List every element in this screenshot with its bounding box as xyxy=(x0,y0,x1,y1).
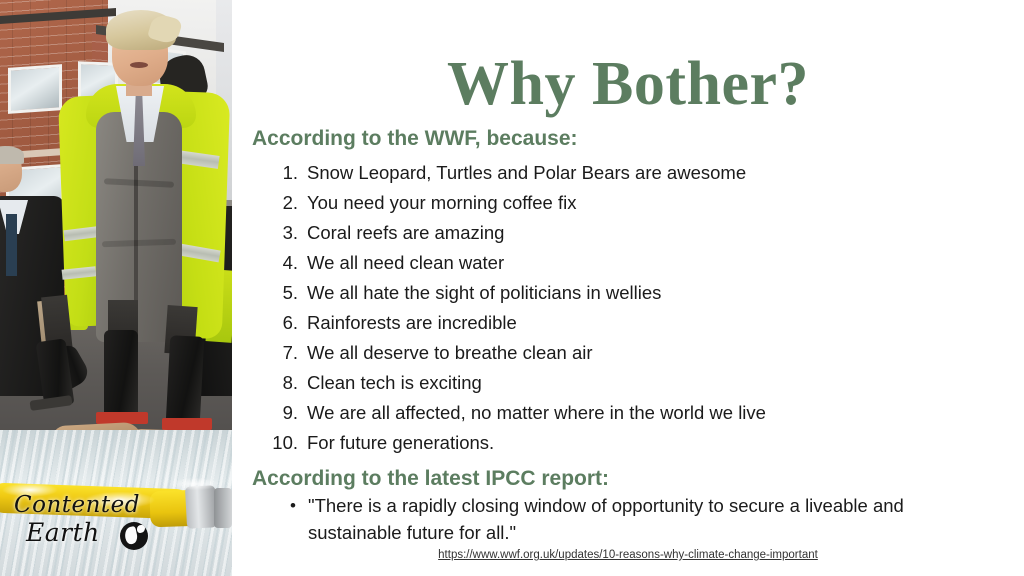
list-item: 7.We all deserve to breathe clean air xyxy=(252,338,992,368)
list-item: 2.You need your morning coffee fix xyxy=(252,188,992,218)
photo-boot-sole xyxy=(162,418,212,430)
list-item-label: We all need clean water xyxy=(307,248,992,278)
list-item: 9.We are all affected, no matter where i… xyxy=(252,398,992,428)
photo-wellington-boot xyxy=(166,335,205,425)
photo-bystander-left-tie xyxy=(6,214,17,276)
list-item: 4.We all need clean water xyxy=(252,248,992,278)
list-item-label: For future generations. xyxy=(307,428,992,458)
list-item: "There is a rapidly closing window of op… xyxy=(252,492,982,546)
list-item-number: 4. xyxy=(252,248,307,278)
list-item-number: 1. xyxy=(252,158,307,188)
list-item-number: 7. xyxy=(252,338,307,368)
list-item-number: 2. xyxy=(252,188,307,218)
list-item-label: Coral reefs are amazing xyxy=(307,218,992,248)
source-url-link[interactable]: https://www.wwf.org.uk/updates/10-reason… xyxy=(232,549,1024,561)
list-item: 8.Clean tech is exciting xyxy=(252,368,992,398)
photo-window xyxy=(8,64,62,114)
list-item: 1.Snow Leopard, Turtles and Polar Bears … xyxy=(252,158,992,188)
list-item: 10.For future generations. xyxy=(252,428,992,458)
list-item-label: We are all affected, no matter where in … xyxy=(307,398,992,428)
wwf-reasons-list: 1.Snow Leopard, Turtles and Polar Bears … xyxy=(252,158,992,458)
ipcc-section-heading: According to the latest IPCC report: xyxy=(252,467,609,491)
page-title: Why Bother? xyxy=(232,50,1024,118)
list-item-number: 6. xyxy=(252,308,307,338)
list-item-number: 5. xyxy=(252,278,307,308)
flood-photo: Contented Earth xyxy=(0,0,232,576)
list-item: 5.We all hate the sight of politicians i… xyxy=(252,278,992,308)
list-item-label: You need your morning coffee fix xyxy=(307,188,992,218)
list-item: 6.Rainforests are incredible xyxy=(252,308,992,338)
list-item-label: Rainforests are incredible xyxy=(307,308,992,338)
photo-wellington-boot xyxy=(104,330,138,418)
list-item: 3.Coral reefs are amazing xyxy=(252,218,992,248)
photo-mouth xyxy=(130,62,148,68)
wwf-section-heading: According to the WWF, because: xyxy=(252,127,578,151)
list-item-label: We all deserve to breathe clean air xyxy=(307,338,992,368)
list-item-number: 9. xyxy=(252,398,307,428)
slide: Contented Earth Why Bother? According to… xyxy=(0,0,1024,576)
slide-content: Why Bother? According to the WWF, becaus… xyxy=(232,0,1024,576)
list-item-label: We all hate the sight of politicians in … xyxy=(307,278,992,308)
photo-water-foam xyxy=(0,470,232,530)
list-item-number: 3. xyxy=(252,218,307,248)
list-item-label: Clean tech is exciting xyxy=(307,368,992,398)
list-item-label: Snow Leopard, Turtles and Polar Bears ar… xyxy=(307,158,992,188)
list-item-number: 8. xyxy=(252,368,307,398)
ipcc-quote-list: "There is a rapidly closing window of op… xyxy=(252,492,982,546)
list-item-number: 10. xyxy=(252,428,307,458)
